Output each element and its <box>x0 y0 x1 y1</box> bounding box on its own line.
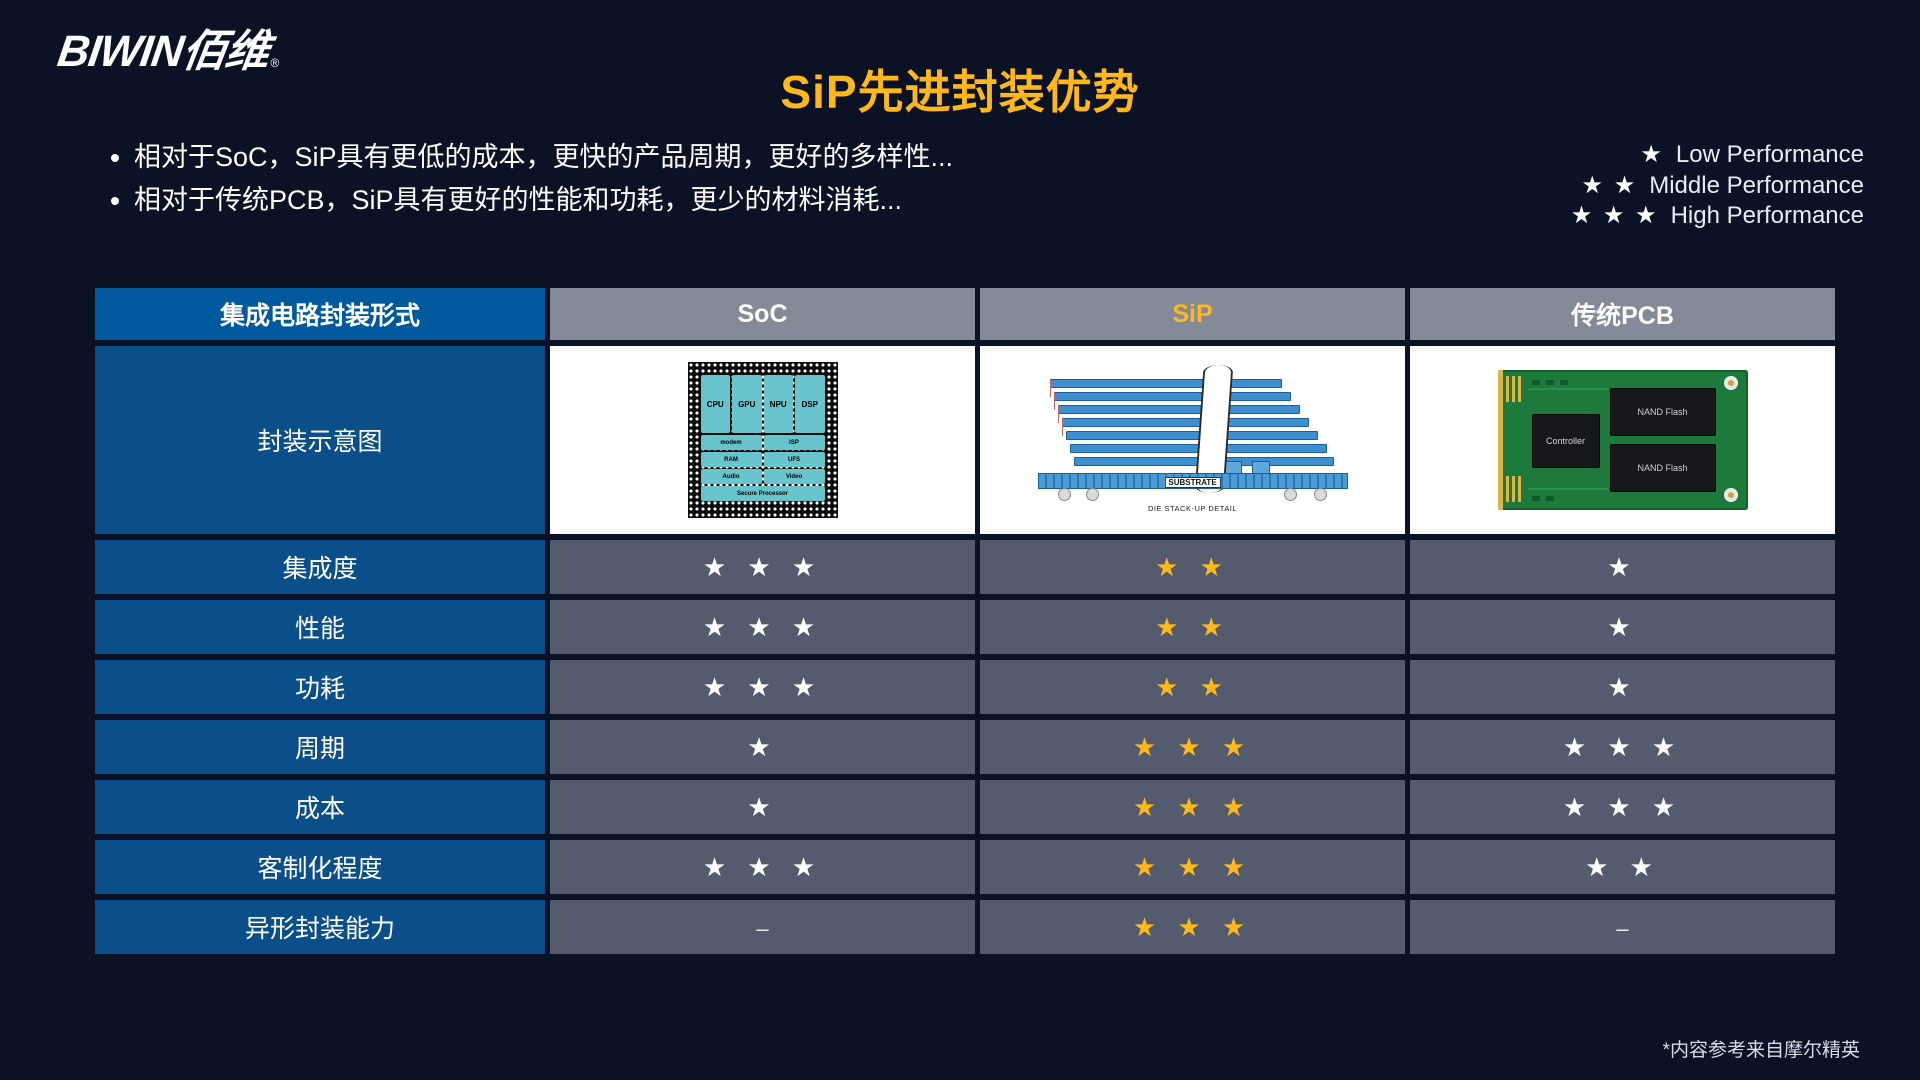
row-label-diagram: 封装示意图 <box>95 346 545 534</box>
soc-block-ufs: UFS <box>764 452 825 467</box>
legend-label: Middle Performance <box>1649 171 1864 202</box>
table-row: 客制化程度 ★ ★ ★ ★ ★ ★ ★ ★ <box>95 840 1835 894</box>
cell-soc: ★ ★ ★ <box>550 660 975 714</box>
table-row: 成本 ★ ★ ★ ★ ★ ★ ★ <box>95 780 1835 834</box>
soc-block-dsp: DSP <box>795 375 825 433</box>
row-label: 周期 <box>95 720 545 774</box>
sip-caption: DIE STACK-UP DETAIL <box>1148 504 1237 513</box>
cell-pcb: ★ <box>1410 660 1835 714</box>
cell-sip: ★ ★ ★ <box>980 780 1405 834</box>
cell-pcb: – <box>1410 900 1835 954</box>
table-row: 周期 ★ ★ ★ ★ ★ ★ ★ <box>95 720 1835 774</box>
header-cell-soc: SoC <box>550 288 975 340</box>
cell-sip: ★ ★ <box>980 660 1405 714</box>
table-row: 功耗 ★ ★ ★ ★ ★ ★ <box>95 660 1835 714</box>
soc-block-secure-processor: Secure Processor <box>701 486 825 501</box>
soc-block-npu: NPU <box>764 375 794 433</box>
pcb-chip-controller: Controller <box>1532 414 1600 468</box>
cell-pcb: ★ ★ <box>1410 840 1835 894</box>
row-label: 异形封装能力 <box>95 900 545 954</box>
sip-die-stack-illustration: SUBSTRATE DIE STACK-UP DETAIL <box>1028 365 1358 515</box>
cell-soc: ★ ★ ★ <box>550 840 975 894</box>
table-row: 集成度 ★ ★ ★ ★ ★ ★ <box>95 540 1835 594</box>
soc-block-audio: Audio <box>701 469 762 484</box>
table-row: 异形封装能力 – ★ ★ ★ – <box>95 900 1835 954</box>
header-cell-category: 集成电路封装形式 <box>95 288 545 340</box>
cell-sip: ★ ★ ★ <box>980 900 1405 954</box>
pcb-chip-nand-flash-bottom: NAND Flash <box>1610 444 1716 492</box>
legend-label: Low Performance <box>1676 140 1864 171</box>
substrate-label: SUBSTRATE <box>1164 477 1220 488</box>
pcb-module-illustration: Controller NAND Flash NAND Flash <box>1498 370 1748 510</box>
soc-block-isp: ISP <box>764 435 825 450</box>
soc-block-modem: modem <box>701 435 762 450</box>
header-cell-sip: SiP <box>980 288 1405 340</box>
cell-sip: ★ ★ ★ <box>980 840 1405 894</box>
intro-bullets: 相对于SoC，SiP具有更低的成本，更快的产品周期，更好的多样性... 相对于传… <box>108 138 1288 224</box>
table-row-diagrams: 封装示意图 CPU GPU NPU DSP <box>95 346 1835 534</box>
cell-soc: ★ ★ ★ <box>550 600 975 654</box>
legend-stars: ★ <box>1640 140 1664 171</box>
bullet-item: 相对于传统PCB，SiP具有更好的性能和功耗，更少的材料消耗... <box>134 181 1288 220</box>
legend-stars: ★ ★ ★ <box>1571 201 1659 232</box>
row-label: 客制化程度 <box>95 840 545 894</box>
row-label: 成本 <box>95 780 545 834</box>
pcb-chip-nand-flash-top: NAND Flash <box>1610 388 1716 436</box>
legend-label: High Performance <box>1671 201 1864 232</box>
star-rating-legend: ★ Low Performance ★ ★ Middle Performance… <box>1571 140 1864 232</box>
header-cell-pcb: 传统PCB <box>1410 288 1835 340</box>
legend-stars: ★ ★ <box>1582 171 1638 202</box>
cell-soc: ★ ★ ★ <box>550 540 975 594</box>
legend-item: ★ ★ ★ High Performance <box>1571 201 1864 232</box>
source-footnote: *内容参考来自摩尔精英 <box>1663 1035 1860 1062</box>
soc-block-cpu: CPU <box>701 375 731 433</box>
cell-pcb: ★ <box>1410 600 1835 654</box>
row-label: 集成度 <box>95 540 545 594</box>
soc-diagram-cell: CPU GPU NPU DSP modem ISP RAM <box>550 346 975 534</box>
row-label: 功耗 <box>95 660 545 714</box>
cell-sip: ★ ★ ★ <box>980 720 1405 774</box>
cell-soc: ★ <box>550 720 975 774</box>
legend-item: ★ ★ Middle Performance <box>1571 171 1864 202</box>
cell-soc: – <box>550 900 975 954</box>
legend-item: ★ Low Performance <box>1571 140 1864 171</box>
soc-block-ram: RAM <box>701 452 762 467</box>
cell-pcb: ★ ★ ★ <box>1410 780 1835 834</box>
soc-block-video: Video <box>764 469 825 484</box>
soc-die-illustration: CPU GPU NPU DSP modem ISP RAM <box>688 362 838 518</box>
cell-pcb: ★ <box>1410 540 1835 594</box>
sip-diagram-cell: SUBSTRATE DIE STACK-UP DETAIL <box>980 346 1405 534</box>
pcb-diagram-cell: Controller NAND Flash NAND Flash <box>1410 346 1835 534</box>
bullet-item: 相对于SoC，SiP具有更低的成本，更快的产品周期，更好的多样性... <box>134 138 1288 177</box>
soc-block-gpu: GPU <box>732 375 762 433</box>
row-label: 性能 <box>95 600 545 654</box>
cell-soc: ★ <box>550 780 975 834</box>
cell-sip: ★ ★ <box>980 600 1405 654</box>
page-title: SiP先进封装优势 <box>0 56 1920 122</box>
comparison-table: 集成电路封装形式 SoC SiP 传统PCB 封装示意图 CPU GPU <box>90 282 1840 960</box>
table-header-row: 集成电路封装形式 SoC SiP 传统PCB <box>95 288 1835 340</box>
cell-pcb: ★ ★ ★ <box>1410 720 1835 774</box>
table-row: 性能 ★ ★ ★ ★ ★ ★ <box>95 600 1835 654</box>
cell-sip: ★ ★ <box>980 540 1405 594</box>
